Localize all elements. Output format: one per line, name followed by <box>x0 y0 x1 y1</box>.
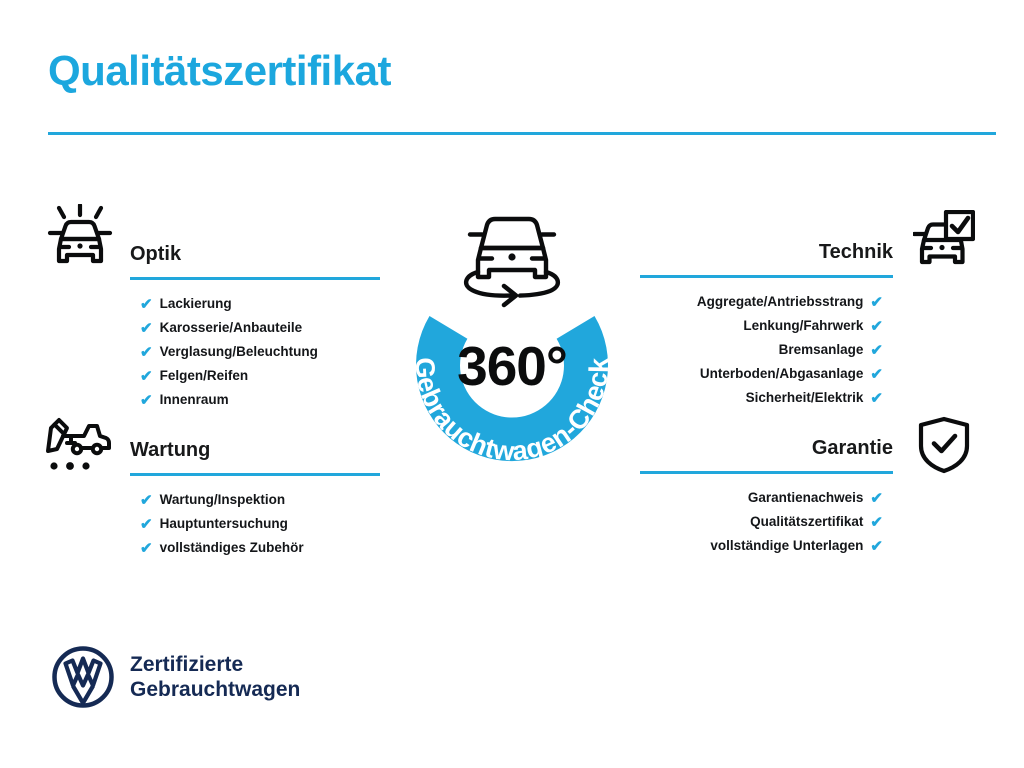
badge-360-check: Gebrauchtwagen-Check 360° <box>372 196 652 496</box>
list-item: ✔Innenraum <box>130 388 380 412</box>
footer-line-2: Gebrauchtwagen <box>130 677 300 702</box>
section-optik-divider <box>130 277 380 280</box>
list-item: ✔Verglasung/Beleuchtung <box>130 340 380 364</box>
section-garantie-divider <box>640 471 893 474</box>
list-item-label: Innenraum <box>160 388 229 412</box>
check-icon: ✔ <box>140 369 153 384</box>
section-garantie-title: Garantie <box>640 434 893 462</box>
check-icon: ✔ <box>870 295 883 310</box>
section-optik: Optik ✔Lackierung ✔Karosserie/Anbauteile… <box>130 240 380 412</box>
list-item: Garantienachweis✔ <box>640 486 893 510</box>
car-front-checkbox-icon <box>913 210 975 273</box>
list-item: Bremsanlage✔ <box>640 338 893 362</box>
footer-logo: Zertifizierte Gebrauchtwagen <box>52 646 300 708</box>
badge-center-value: 360° <box>372 334 652 398</box>
check-icon: ✔ <box>870 491 883 506</box>
list-item-label: Felgen/Reifen <box>160 364 249 388</box>
check-icon: ✔ <box>140 517 153 532</box>
list-item-label: Wartung/Inspektion <box>160 488 286 512</box>
section-wartung: Wartung ✔Wartung/Inspektion ✔Hauptunters… <box>130 436 380 560</box>
list-item-label: Verglasung/Beleuchtung <box>160 340 318 364</box>
list-item-label: Aggregate/Antriebsstrang <box>697 290 864 314</box>
section-garantie-header: Garantie <box>640 434 893 474</box>
list-item-label: Bremsanlage <box>779 338 864 362</box>
section-optik-list: ✔Lackierung ✔Karosserie/Anbauteile ✔Verg… <box>130 292 380 412</box>
check-icon: ✔ <box>870 343 883 358</box>
list-item-label: Unterboden/Abgasanlage <box>700 362 864 386</box>
list-item-label: Lackierung <box>160 292 232 316</box>
check-icon: ✔ <box>140 393 153 408</box>
list-item-label: vollständige Unterlagen <box>710 534 863 558</box>
check-icon: ✔ <box>140 345 153 360</box>
section-optik-header: Optik <box>130 240 380 280</box>
car-front-lights-icon <box>47 204 113 271</box>
check-icon: ✔ <box>870 539 883 554</box>
list-item-label: Karosserie/Anbauteile <box>160 316 303 340</box>
section-technik-list: Aggregate/Antriebsstrang✔ Lenkung/Fahrwe… <box>640 290 893 410</box>
section-garantie-list: Garantienachweis✔ Qualitätszertifikat✔ v… <box>640 486 893 558</box>
vw-logo-icon <box>52 646 114 708</box>
section-technik-divider <box>640 275 893 278</box>
list-item-label: Garantienachweis <box>748 486 864 510</box>
pencil-car-service-icon <box>45 416 113 479</box>
check-icon: ✔ <box>140 493 153 508</box>
shield-check-icon <box>917 416 971 479</box>
list-item: vollständige Unterlagen✔ <box>640 534 893 558</box>
section-garantie: Garantie Garantienachweis✔ Qualitätszert… <box>640 434 893 558</box>
list-item: ✔Wartung/Inspektion <box>130 488 380 512</box>
list-item-label: Sicherheit/Elektrik <box>746 386 864 410</box>
list-item-label: Lenkung/Fahrwerk <box>743 314 863 338</box>
section-optik-title: Optik <box>130 240 380 268</box>
section-wartung-list: ✔Wartung/Inspektion ✔Hauptuntersuchung ✔… <box>130 488 380 560</box>
list-item-label: vollständiges Zubehör <box>160 536 304 560</box>
check-icon: ✔ <box>140 297 153 312</box>
footer-logo-text: Zertifizierte Gebrauchtwagen <box>130 652 300 702</box>
list-item: Qualitätszertifikat✔ <box>640 510 893 534</box>
list-item: ✔vollständiges Zubehör <box>130 536 380 560</box>
title-divider <box>48 132 996 135</box>
check-icon: ✔ <box>140 321 153 336</box>
check-icon: ✔ <box>870 515 883 530</box>
check-icon: ✔ <box>870 367 883 382</box>
section-technik-header: Technik <box>640 238 893 278</box>
list-item: ✔Felgen/Reifen <box>130 364 380 388</box>
list-item: Unterboden/Abgasanlage✔ <box>640 362 893 386</box>
list-item: ✔Karosserie/Anbauteile <box>130 316 380 340</box>
list-item: Aggregate/Antriebsstrang✔ <box>640 290 893 314</box>
page-title: Qualitätszertifikat <box>48 48 391 94</box>
list-item-label: Qualitätszertifikat <box>750 510 863 534</box>
section-wartung-title: Wartung <box>130 436 380 464</box>
check-icon: ✔ <box>140 541 153 556</box>
footer-line-1: Zertifizierte <box>130 652 300 677</box>
section-technik-title: Technik <box>640 238 893 266</box>
car-rotation-icon <box>448 198 576 308</box>
list-item: Lenkung/Fahrwerk✔ <box>640 314 893 338</box>
list-item: Sicherheit/Elektrik✔ <box>640 386 893 410</box>
section-wartung-divider <box>130 473 380 476</box>
list-item-label: Hauptuntersuchung <box>160 512 288 536</box>
section-technik: Technik Aggregate/Antriebsstrang✔ Lenkun… <box>640 238 893 410</box>
list-item: ✔Lackierung <box>130 292 380 316</box>
check-icon: ✔ <box>870 391 883 406</box>
list-item: ✔Hauptuntersuchung <box>130 512 380 536</box>
section-wartung-header: Wartung <box>130 436 380 476</box>
check-icon: ✔ <box>870 319 883 334</box>
